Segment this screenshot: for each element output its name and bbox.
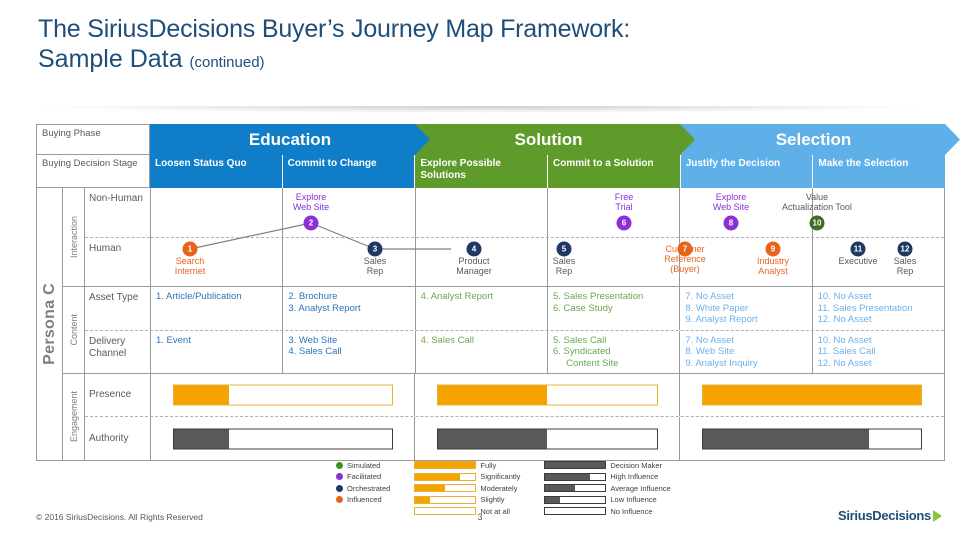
engagement-group-label: Engagement (69, 391, 79, 442)
delivery-channel-cell-6: 10. No Asset 11. Sales Call 12. No Asset (813, 331, 944, 374)
logo-text: SiriusDecisions (838, 508, 931, 523)
stage-cell-6[interactable]: Make the Selection (813, 155, 945, 188)
engagement-group: Engagement Presence Authority (63, 374, 944, 460)
engagement-rows: Presence Authority (85, 374, 944, 460)
interaction-node-6[interactable]: 6 (617, 216, 632, 231)
authority-legend-bar (544, 461, 606, 469)
authority-legend-label: Decision Maker (610, 461, 662, 470)
interaction-group: Interaction Non-Human Human (63, 188, 944, 287)
authority-bar-fill (703, 429, 869, 448)
presence-bar-1[interactable] (173, 385, 393, 406)
presence-legend-bar (414, 496, 476, 504)
interaction-node-label-6: Free Trial (615, 192, 634, 212)
row-label-delivery-channel: Delivery Channel (85, 331, 151, 374)
legend-dot-icon (336, 496, 343, 503)
presence-legend-bar (414, 461, 476, 469)
interaction-node-label-3: Sales Rep (364, 256, 387, 276)
delivery-channel-cell-3: 4. Sales Call (416, 331, 548, 374)
legend: SimulatedFacilitatedOrchestratedInfluenc… (336, 460, 671, 516)
phase-chevron-label: Solution (515, 130, 583, 150)
row-label-non-human: Non-Human (85, 188, 150, 238)
phase-chevron-label: Selection (776, 130, 852, 150)
legend-label: Facilitated (347, 472, 381, 481)
authority-legend-bar (544, 484, 606, 492)
legend-dot-icon (336, 462, 343, 469)
interaction-node-label-5: Sales Rep (553, 256, 576, 276)
phase-chevron-selection[interactable]: Selection (667, 124, 960, 155)
delivery-channel-cell-1: 1. Event (151, 331, 283, 374)
interaction-node-label-2: Explore Web Site (293, 192, 329, 212)
presence-legend-item: Slightly (414, 495, 520, 505)
phase-header-row: Buying Phase EducationSolutionSelection (36, 124, 945, 155)
legend-item-influenced: Influenced (336, 495, 390, 505)
authority-row: Authority (85, 417, 944, 460)
asset-type-cell-4: 5. Sales Presentation 6. Case Study (548, 287, 680, 330)
legend-dot-icon (336, 473, 343, 480)
interaction-nodes: Search Internet1Explore Web Site2Sales R… (151, 188, 944, 286)
interaction-node-label-8: Explore Web Site (713, 192, 749, 212)
authority-legend-bar-fill (545, 485, 575, 491)
interaction-node-12[interactable]: 12 (898, 242, 913, 257)
interaction-node-1[interactable]: 1 (183, 242, 198, 257)
presence-group-3 (680, 374, 944, 416)
row-label-presence: Presence (85, 374, 151, 416)
interaction-node-11[interactable]: 11 (851, 242, 866, 257)
interaction-row-labels: Non-Human Human (85, 188, 151, 286)
presence-legend-bar-fill (415, 485, 445, 491)
stage-cell-4[interactable]: Commit to a Solution (548, 155, 681, 188)
interaction-node-label-9: Industry Analyst (757, 256, 789, 276)
authority-legend-bar-fill (545, 474, 590, 480)
authority-bar-cells (151, 417, 944, 460)
authority-legend-label: High Influence (610, 472, 658, 481)
legend-item-orchestrated: Orchestrated (336, 483, 390, 493)
content-group: Content Asset Type 1. Article/Publicatio… (63, 287, 944, 374)
content-group-label: Content (69, 314, 79, 346)
buying-phase-label: Buying Phase (36, 124, 150, 155)
authority-legend-label: Average Influence (610, 484, 670, 493)
stage-cells: Loosen Status QuoCommit to ChangeExplore… (150, 155, 945, 188)
presence-legend-label: Fully (480, 461, 496, 470)
phase-chevron-education[interactable]: Education (150, 124, 430, 155)
authority-bar-fill (438, 429, 547, 448)
interaction-node-label-12: Sales Rep (894, 256, 917, 276)
asset-type-cell-1: 1. Article/Publication (151, 287, 283, 330)
authority-group-2 (415, 417, 679, 460)
presence-bar-3[interactable] (702, 385, 922, 406)
interaction-rows: Non-Human Human (85, 188, 944, 286)
legend-authority-scale: Decision MakerHigh InfluenceAverage Infl… (544, 460, 670, 516)
persona-label: Persona C (41, 283, 59, 365)
presence-legend-item: Fully (414, 460, 520, 470)
stage-cell-3[interactable]: Explore Possible Solutions (415, 155, 548, 188)
content-group-label-cell: Content (63, 287, 85, 373)
interaction-node-label-11: Executive (838, 256, 877, 266)
presence-row: Presence (85, 374, 944, 417)
logo-arrow-icon (933, 510, 942, 522)
phase-chevron-solution[interactable]: Solution (402, 124, 695, 155)
footer-page-number: 3 (0, 512, 960, 522)
delivery-channel-row: Delivery Channel 1. Event3. Web Site 4. … (85, 331, 944, 374)
asset-type-row: Asset Type 1. Article/Publication2. Broc… (85, 287, 944, 331)
siriusdecisions-logo: SiriusDecisions (838, 508, 942, 523)
presence-legend-label: Moderately (480, 484, 517, 493)
authority-legend-item: Average Influence (544, 483, 670, 493)
interaction-node-8[interactable]: 8 (724, 216, 739, 231)
matrix-rows: Interaction Non-Human Human (63, 188, 944, 460)
presence-legend-label: Slightly (480, 495, 504, 504)
asset-type-cell-2: 2. Brochure 3. Analyst Report (283, 287, 415, 330)
authority-bar-2[interactable] (437, 428, 657, 449)
title-divider-shadow (40, 106, 925, 113)
asset-type-cells: 1. Article/Publication2. Brochure 3. Ana… (151, 287, 944, 330)
authority-legend-bar-fill (545, 497, 560, 503)
presence-legend-bar-fill (415, 497, 430, 503)
asset-type-cell-6: 10. No Asset 11. Sales Presentation 12. … (813, 287, 944, 330)
presence-legend-bar (414, 484, 476, 492)
legend-label: Influenced (347, 495, 382, 504)
presence-bar-fill (703, 386, 921, 405)
presence-bar-cells (151, 374, 944, 416)
authority-group-3 (680, 417, 944, 460)
engagement-group-label-cell: Engagement (63, 374, 85, 460)
interaction-node-9[interactable]: 9 (766, 242, 781, 257)
authority-legend-label: Low Influence (610, 495, 656, 504)
phase-chevron-label: Education (249, 130, 331, 150)
presence-bar-fill (438, 386, 547, 405)
legend-item-simulated: Simulated (336, 460, 390, 470)
interaction-group-label-cell: Interaction (63, 188, 85, 286)
matrix-body: Persona C Interaction Non-Human Human (36, 188, 945, 461)
presence-bar-2[interactable] (437, 385, 657, 406)
persona-column: Persona C (37, 188, 63, 460)
legend-dot-icon (336, 485, 343, 492)
title-line-1: The SiriusDecisions Buyer’s Journey Map … (38, 14, 938, 44)
presence-group-1 (151, 374, 415, 416)
buying-decision-stage-label: Buying Decision Stage (36, 155, 150, 188)
interaction-node-5[interactable]: 5 (557, 242, 572, 257)
authority-legend-bar-fill (545, 462, 605, 468)
stage-cell-1[interactable]: Loosen Status Quo (150, 155, 283, 188)
asset-type-cell-5: 7. No Asset 8. White Paper 9. Analyst Re… (680, 287, 812, 330)
presence-legend-bar (414, 473, 476, 481)
interaction-chart: Search Internet1Explore Web Site2Sales R… (151, 188, 944, 286)
presence-group-2 (415, 374, 679, 416)
authority-bar-3[interactable] (702, 428, 922, 449)
interaction-chart-cells: Search Internet1Explore Web Site2Sales R… (151, 188, 944, 286)
authority-legend-bar (544, 473, 606, 481)
row-label-human: Human (85, 238, 150, 287)
delivery-channel-cell-4: 5. Sales Call 6. Syndicated Content Site (548, 331, 680, 374)
content-rows: Asset Type 1. Article/Publication2. Broc… (85, 287, 944, 373)
phase-chevron-strip: EducationSolutionSelection (150, 124, 945, 155)
authority-legend-item: High Influence (544, 472, 670, 482)
presence-bar-fill (174, 386, 229, 405)
stage-header-row: Buying Decision Stage Loosen Status QuoC… (36, 155, 945, 188)
authority-legend-bar (544, 496, 606, 504)
legend-presence-scale: FullySignificantlyModeratelySlightlyNot … (414, 460, 520, 516)
stage-cell-5[interactable]: Justify the Decision (681, 155, 814, 188)
authority-legend-item: Decision Maker (544, 460, 670, 470)
row-label-authority: Authority (85, 417, 151, 460)
title-continued: (continued) (189, 54, 264, 71)
row-label-asset-type: Asset Type (85, 287, 151, 330)
interaction-node-label-4: Product Manager (456, 256, 492, 276)
interaction-chart-row: Non-Human Human (85, 188, 944, 286)
presence-legend-item: Moderately (414, 483, 520, 493)
interaction-node-label-10: Value Actualization Tool (782, 192, 852, 212)
interaction-node-10[interactable]: 10 (810, 216, 825, 231)
interaction-node-7[interactable]: 7 (678, 242, 693, 257)
title-line-2: Sample Data (continued) (38, 44, 938, 78)
interaction-node-3[interactable]: 3 (368, 242, 383, 257)
authority-bar-1[interactable] (173, 428, 393, 449)
title-line-2-text: Sample Data (38, 45, 183, 73)
legend-label: Simulated (347, 461, 380, 470)
authority-group-1 (151, 417, 415, 460)
interaction-group-label: Interaction (69, 216, 79, 258)
asset-type-cell-3: 4. Analyst Report (416, 287, 548, 330)
interaction-node-label-1: Search Internet (175, 256, 206, 276)
page-title: The SiriusDecisions Buyer’s Journey Map … (38, 14, 938, 78)
legend-item-facilitated: Facilitated (336, 472, 390, 482)
journey-map-matrix: Buying Phase EducationSolutionSelection … (36, 124, 945, 461)
legend-label: Orchestrated (347, 484, 390, 493)
delivery-channel-cell-2: 3. Web Site 4. Sales Call (283, 331, 415, 374)
presence-legend-label: Significantly (480, 472, 520, 481)
presence-legend-item: Significantly (414, 472, 520, 482)
authority-bar-fill (174, 429, 229, 448)
interaction-node-4[interactable]: 4 (467, 242, 482, 257)
interaction-node-2[interactable]: 2 (304, 216, 319, 231)
delivery-channel-cells: 1. Event3. Web Site 4. Sales Call4. Sale… (151, 331, 944, 374)
presence-legend-bar-fill (415, 462, 475, 468)
delivery-channel-cell-5: 7. No Asset 8. Web Site 9. Analyst Inqui… (680, 331, 812, 374)
authority-legend-item: Low Influence (544, 495, 670, 505)
presence-legend-bar-fill (415, 474, 460, 480)
legend-interaction-types: SimulatedFacilitatedOrchestratedInfluenc… (336, 460, 390, 516)
stage-cell-2[interactable]: Commit to Change (283, 155, 416, 188)
